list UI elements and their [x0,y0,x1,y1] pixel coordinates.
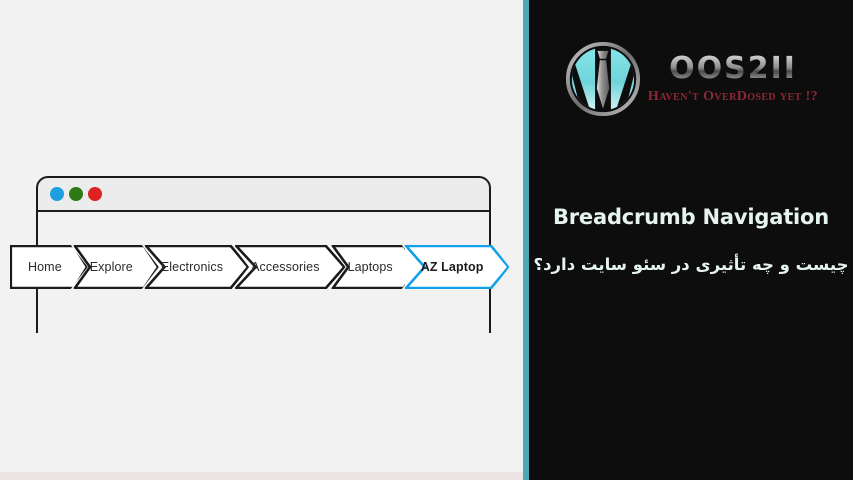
breadcrumb-item-label: Accessories [251,260,319,274]
blue-dot-icon[interactable] [50,187,64,201]
browser-titlebar [36,176,491,212]
breadcrumb-item-label: Laptops [348,260,393,274]
brand-wordmark-group: OOS2II Haven't OverDosed yet !? [648,54,818,105]
breadcrumb-item-label: AZ Laptop [421,260,484,274]
red-dot-icon[interactable] [88,187,102,201]
necktie-circle-logo-icon [564,40,642,118]
bottom-accent-band [0,472,523,480]
breadcrumb-item-label: Home [28,260,62,274]
left-illustration-panel: HomeExploreElectronicsAccessoriesLaptops… [0,0,523,480]
brand-tagline: Haven't OverDosed yet !? [648,89,818,105]
window-controls [50,187,102,201]
breadcrumb-item-label: Electronics [161,260,223,274]
brand-wordmark: OOS2II [669,54,797,84]
page-title: Breadcrumb Navigation [529,205,853,229]
breadcrumb: HomeExploreElectronicsAccessoriesLaptops… [10,245,495,289]
page-subtitle: چیست و چه تأثیری در سئو سایت دارد؟ [529,255,853,274]
slide-canvas: HomeExploreElectronicsAccessoriesLaptops… [0,0,853,480]
green-dot-icon[interactable] [69,187,83,201]
brand-logo: OOS2II Haven't OverDosed yet !? [529,40,853,118]
right-title-panel: OOS2II Haven't OverDosed yet !? Breadcru… [529,0,853,480]
breadcrumb-item-label: Explore [90,260,133,274]
breadcrumb-item-electronics[interactable]: Electronics [145,245,249,289]
breadcrumb-item-accessories[interactable]: Accessories [235,245,345,289]
breadcrumb-item-az-laptop[interactable]: AZ Laptop [405,245,510,289]
